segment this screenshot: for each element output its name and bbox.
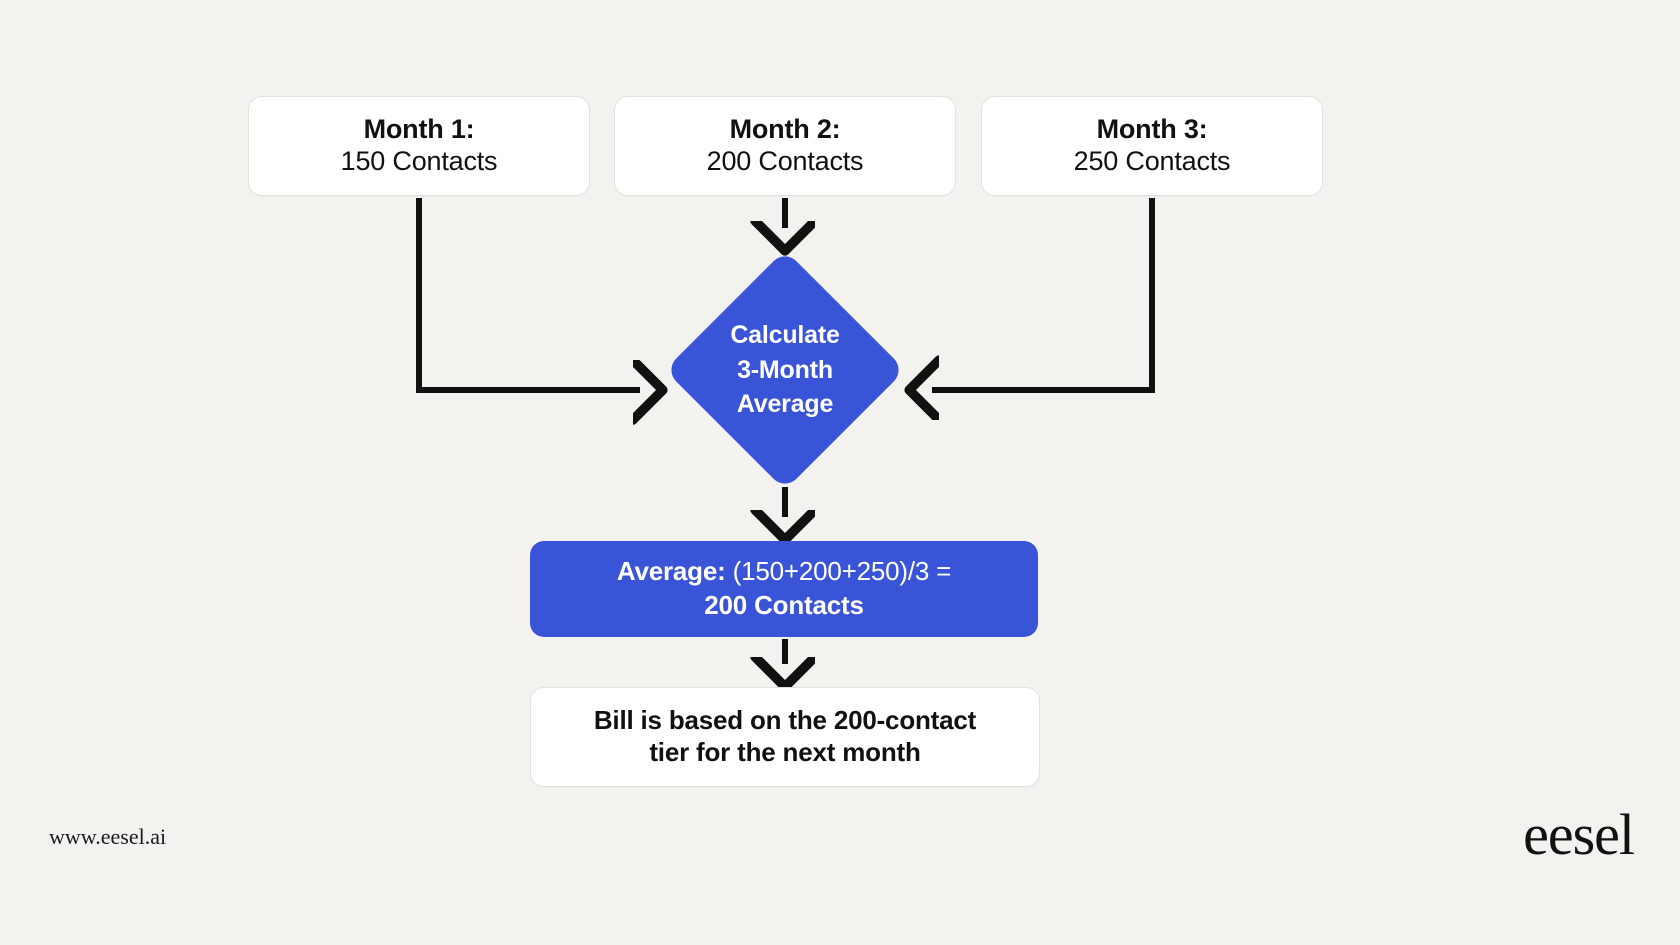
decision-label: Calculate 3-Month Average <box>685 318 885 422</box>
month-1-value: 150 Contacts <box>341 146 498 178</box>
node-average-result: Average: (150+200+250)/3 = 200 Contacts <box>530 541 1038 637</box>
average-value: 200 Contacts <box>704 589 863 623</box>
outcome-line-1: Bill is based on the 200-contact <box>594 705 976 737</box>
node-billing-outcome: Bill is based on the 200-contact tier fo… <box>530 687 1040 787</box>
node-calculate-average: Calculate 3-Month Average <box>665 250 905 490</box>
average-formula-line: Average: (150+200+250)/3 = <box>617 555 951 589</box>
month-2-value: 200 Contacts <box>707 146 864 178</box>
decision-line-3: Average <box>685 387 885 422</box>
brand-logo: eesel <box>1523 806 1634 864</box>
diagram-canvas: Month 1: 150 Contacts Month 2: 200 Conta… <box>0 0 1680 945</box>
month-2-title: Month 2: <box>730 114 841 146</box>
decision-line-2: 3-Month <box>685 353 885 388</box>
node-month-3: Month 3: 250 Contacts <box>981 96 1323 196</box>
outcome-line-2: tier for the next month <box>649 737 920 769</box>
node-month-1: Month 1: 150 Contacts <box>248 96 590 196</box>
connector-month3-to-decision <box>932 198 1152 390</box>
average-prefix: Average: <box>617 556 726 586</box>
month-3-value: 250 Contacts <box>1074 146 1231 178</box>
connector-month1-to-decision <box>419 198 640 390</box>
month-3-title: Month 3: <box>1097 114 1208 146</box>
month-1-title: Month 1: <box>364 114 475 146</box>
footer-url: www.eesel.ai <box>49 824 166 850</box>
decision-line-1: Calculate <box>685 318 885 353</box>
node-month-2: Month 2: 200 Contacts <box>614 96 956 196</box>
average-formula: (150+200+250)/3 = <box>733 556 952 586</box>
